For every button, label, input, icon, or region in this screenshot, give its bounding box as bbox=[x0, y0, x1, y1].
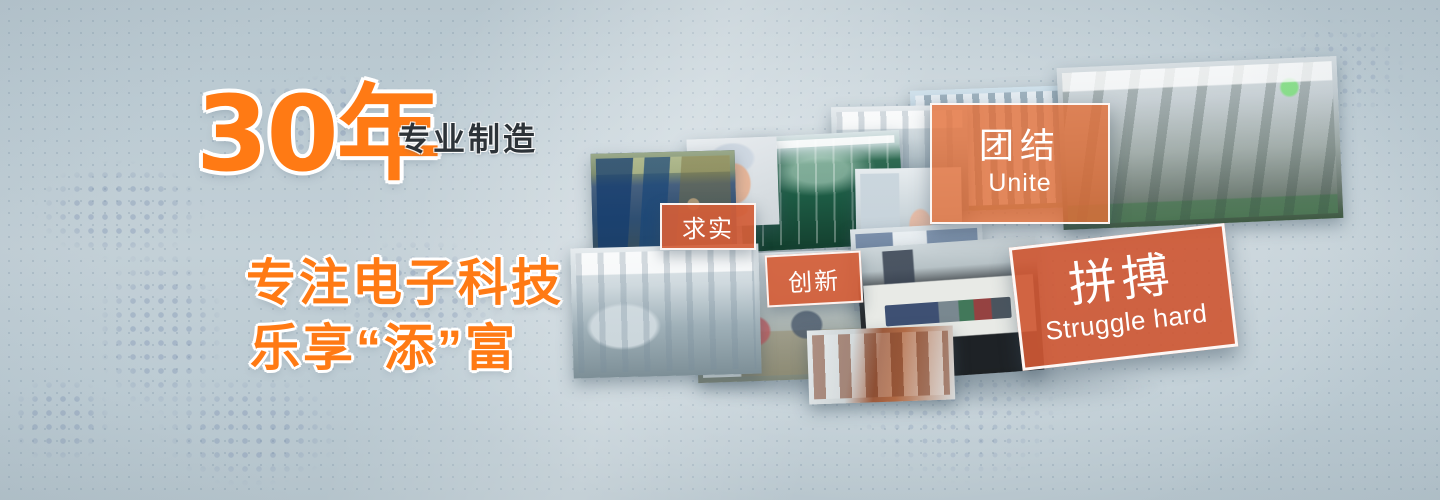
tag-qiushi[interactable]: 求实 bbox=[660, 203, 756, 250]
tag-qiushi-label: 求实 bbox=[682, 209, 734, 244]
photo-reflow-oven[interactable] bbox=[570, 244, 761, 379]
tag-chuangxin-label: 创新 bbox=[787, 260, 841, 298]
photo-corridor-doors[interactable] bbox=[807, 325, 955, 404]
photo-collage: 求实 创新 团结 Unite 拼搏 Struggle hard bbox=[560, 40, 1280, 400]
hero-banner: 30年 专业制造 专注电子科技 乐享“添”富 bbox=[0, 0, 1440, 500]
headline-professional-manufacturing: 专业制造 bbox=[398, 114, 538, 160]
headline-block: 30年 专业制造 专注电子科技 乐享“添”富 bbox=[0, 0, 600, 500]
slogan-line-2: 乐享“添”富 bbox=[250, 308, 518, 380]
panel-unite[interactable]: 团结 Unite bbox=[930, 103, 1110, 224]
panel-unite-label-zh: 团结 bbox=[979, 129, 1061, 166]
panel-unite-label-en: Unite bbox=[988, 169, 1051, 198]
slogan-line-1: 专注电子科技 bbox=[246, 243, 564, 315]
panel-struggle[interactable]: 拼搏 Struggle hard bbox=[1009, 223, 1239, 371]
tag-chuangxin[interactable]: 创新 bbox=[765, 251, 864, 308]
